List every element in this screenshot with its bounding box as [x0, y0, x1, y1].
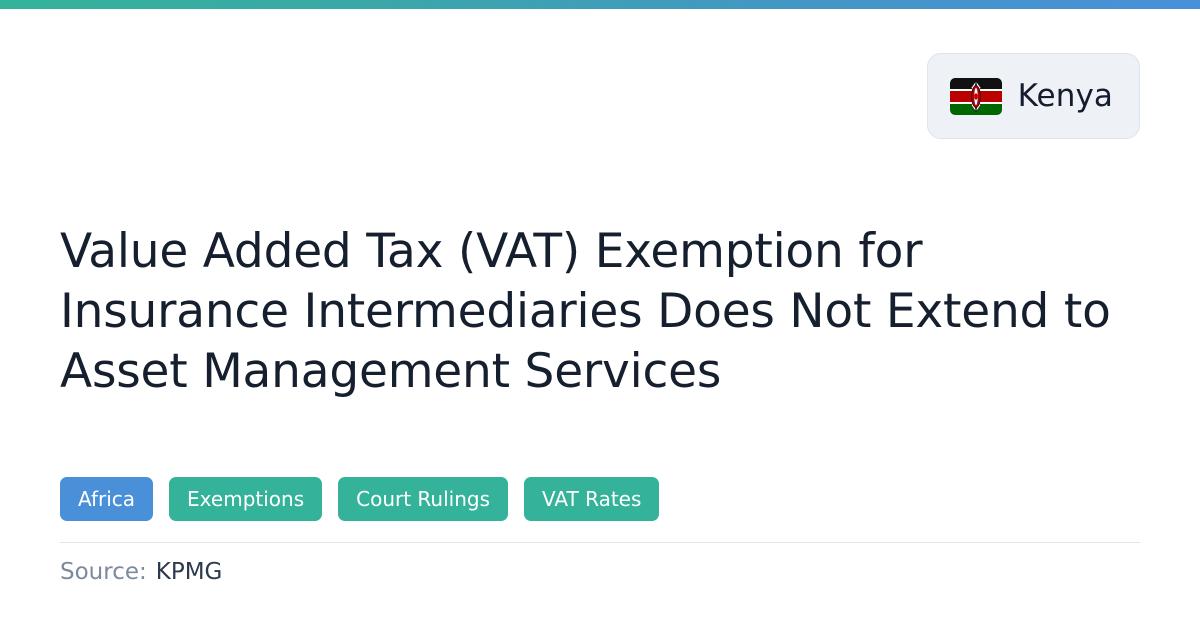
- country-name: Kenya: [1018, 81, 1113, 112]
- kenya-flag-icon: [950, 78, 1002, 115]
- tag-pill-africa[interactable]: Africa: [60, 477, 153, 521]
- footer-divider: [60, 542, 1140, 543]
- tag-pill-vat-rates[interactable]: VAT Rates: [524, 477, 659, 521]
- page-title: Value Added Tax (VAT) Exemption for Insu…: [60, 222, 1145, 402]
- news-card: Kenya Value Added Tax (VAT) Exemption fo…: [0, 0, 1200, 630]
- tag-pill-court-rulings[interactable]: Court Rulings: [338, 477, 508, 521]
- tag-pill-exemptions[interactable]: Exemptions: [169, 477, 322, 521]
- top-accent-bar: [0, 0, 1200, 9]
- source-label: Source:: [60, 561, 147, 584]
- country-badge[interactable]: Kenya: [927, 53, 1140, 139]
- tag-list: Africa Exemptions Court Rulings VAT Rate…: [60, 477, 659, 521]
- source-value: KPMG: [156, 561, 223, 584]
- source-attribution: Source: KPMG: [60, 561, 222, 584]
